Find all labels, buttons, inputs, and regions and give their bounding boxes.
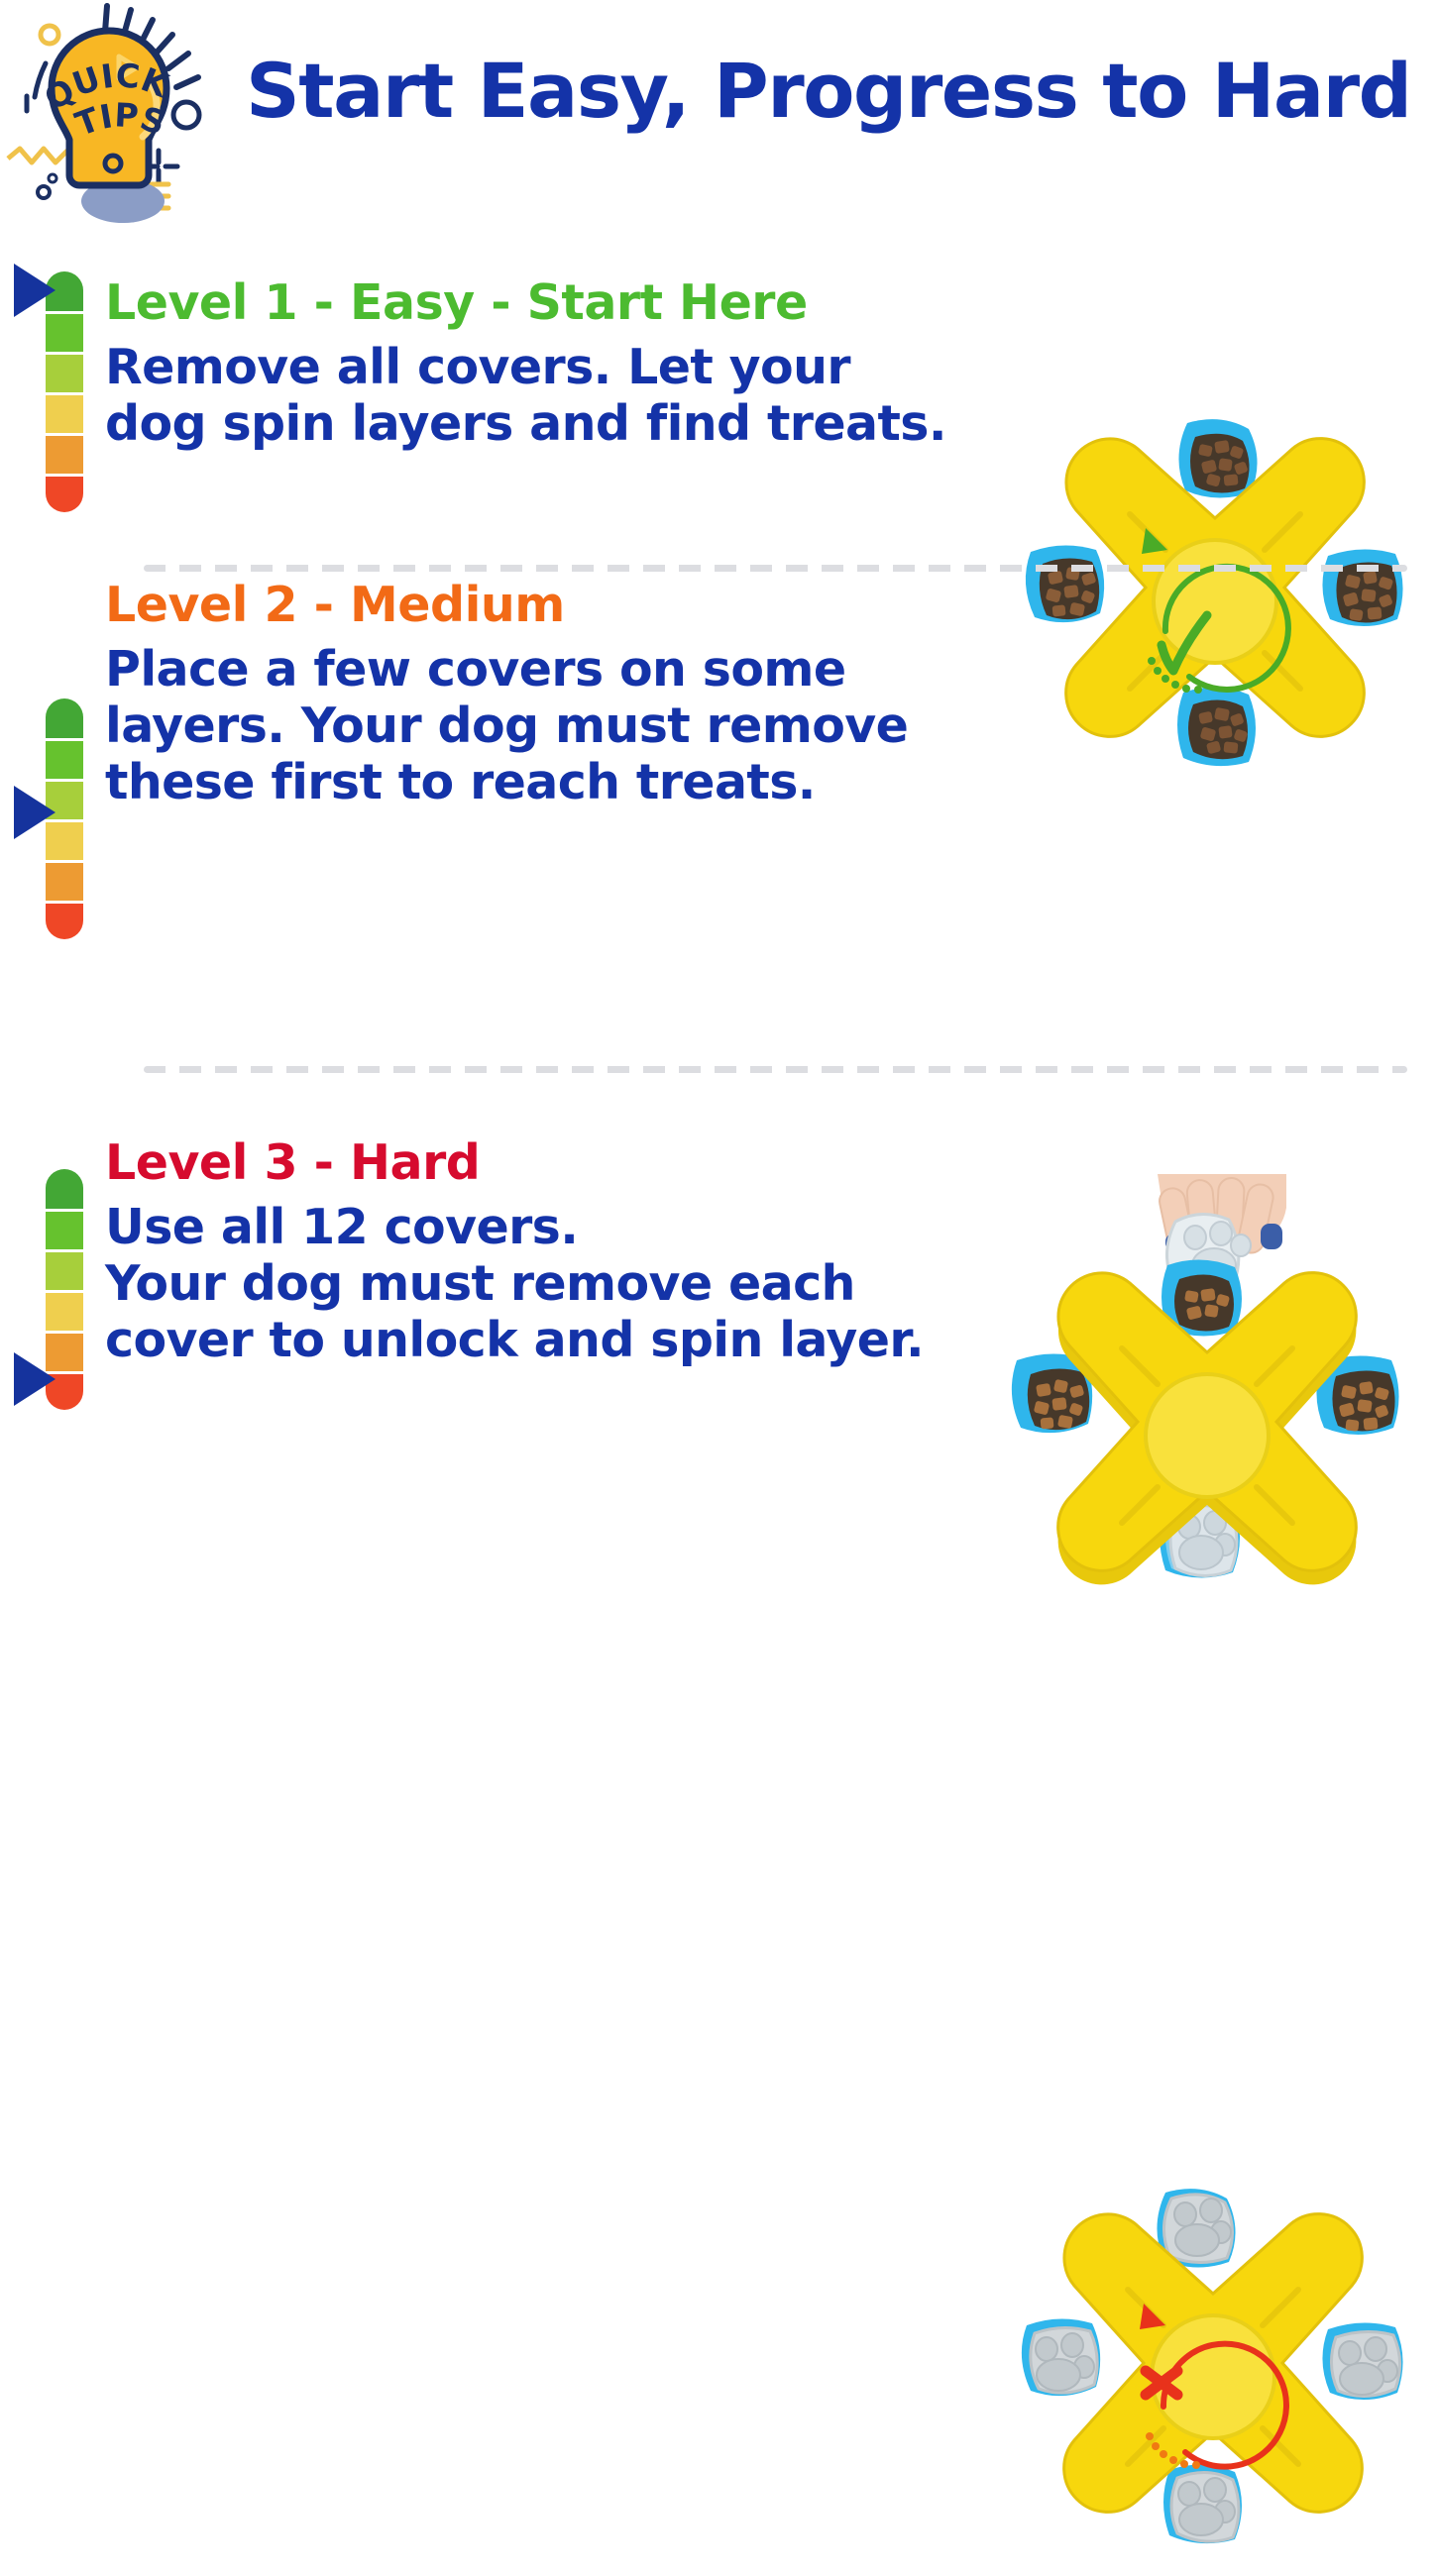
- level-2-heading: Level 2 - Medium: [105, 580, 997, 632]
- header: QUICK TIPS Start Easy, Progress to Hard: [0, 0, 1438, 228]
- level-section-2: Level 2 - Medium Place a few covers on s…: [0, 580, 1438, 1045]
- circle-decoration-yellow: [41, 26, 58, 44]
- circle-decoration-small-a: [38, 186, 50, 198]
- level-2-body-line-3: these first to reach treats.: [105, 755, 997, 811]
- gauge-segment-4: [46, 1293, 83, 1331]
- gauge-segment-6: [46, 904, 83, 939]
- product-image-level-3: [1001, 2185, 1427, 2571]
- level-3-body: Use all 12 covers. Your dog must remove …: [105, 1200, 997, 1368]
- well-left-covered: [1022, 2318, 1100, 2396]
- gauge-segment-6: [46, 477, 83, 512]
- lightbulb-icon: QUICK TIPS: [2, 2, 236, 226]
- level-3-body-line-3: cover to unlock and spin layer.: [105, 1313, 997, 1369]
- well-bottom-covered: [1163, 2464, 1242, 2543]
- level-3-heading: Level 3 - Hard: [105, 1137, 997, 1190]
- circle-decoration-small-b: [49, 174, 56, 182]
- section-divider-1: [144, 565, 1407, 572]
- level-3-text: Level 3 - Hard Use all 12 covers. Your d…: [105, 1137, 997, 1368]
- level-2-body-line-1: Place a few covers on some: [105, 642, 997, 698]
- gauge-segment-1: [46, 698, 83, 738]
- gauge-segment-3: [46, 1252, 83, 1290]
- level-3-body-line-2: Your dog must remove each: [105, 1256, 997, 1313]
- gauge-marker-icon-2: [14, 786, 55, 839]
- puzzle-toy-level-3-illustration: [1001, 2185, 1427, 2571]
- gauge-segment-5: [46, 436, 83, 474]
- level-3-body-line-1: Use all 12 covers.: [105, 1200, 997, 1256]
- zigzag-decoration: [8, 149, 67, 162]
- gauge-segment-3: [46, 355, 83, 392]
- gauge-marker-icon-3: [14, 1352, 55, 1406]
- page-title: Start Easy, Progress to Hard: [246, 54, 1435, 129]
- gauge-segment-2: [46, 1212, 83, 1249]
- gauge-segment-2: [46, 741, 83, 779]
- gauge-segment-5: [46, 863, 83, 901]
- gauge-marker-icon-1: [14, 264, 55, 317]
- level-1-body-line-2: dog spin layers and find treats.: [105, 396, 997, 453]
- gauge-segment-2: [46, 314, 83, 352]
- level-2-text: Level 2 - Medium Place a few covers on s…: [105, 580, 997, 810]
- section-divider-2: [144, 1066, 1407, 1073]
- level-section-3: Level 3 - Hard Use all 12 covers. Your d…: [0, 1090, 1438, 1476]
- level-2-body: Place a few covers on some layers. Your …: [105, 642, 997, 810]
- gauge-segment-1: [46, 1169, 83, 1209]
- quick-tips-logo: QUICK TIPS: [2, 2, 236, 226]
- level-1-text: Level 1 - Easy - Start Here Remove all c…: [105, 277, 997, 453]
- gauge-segment-4: [46, 395, 83, 433]
- level-section-1: Level 1 - Easy - Start Here Remove all c…: [0, 228, 1438, 555]
- well-top: [1178, 419, 1257, 497]
- level-1-body-line-1: Remove all covers. Let your: [105, 340, 997, 396]
- circle-decoration-navy: [173, 102, 199, 128]
- level-1-body: Remove all covers. Let your dog spin lay…: [105, 340, 997, 453]
- well-right-covered: [1322, 2322, 1402, 2400]
- level-2-body-line-2: layers. Your dog must remove: [105, 698, 997, 755]
- level-1-heading: Level 1 - Easy - Start Here: [105, 277, 997, 330]
